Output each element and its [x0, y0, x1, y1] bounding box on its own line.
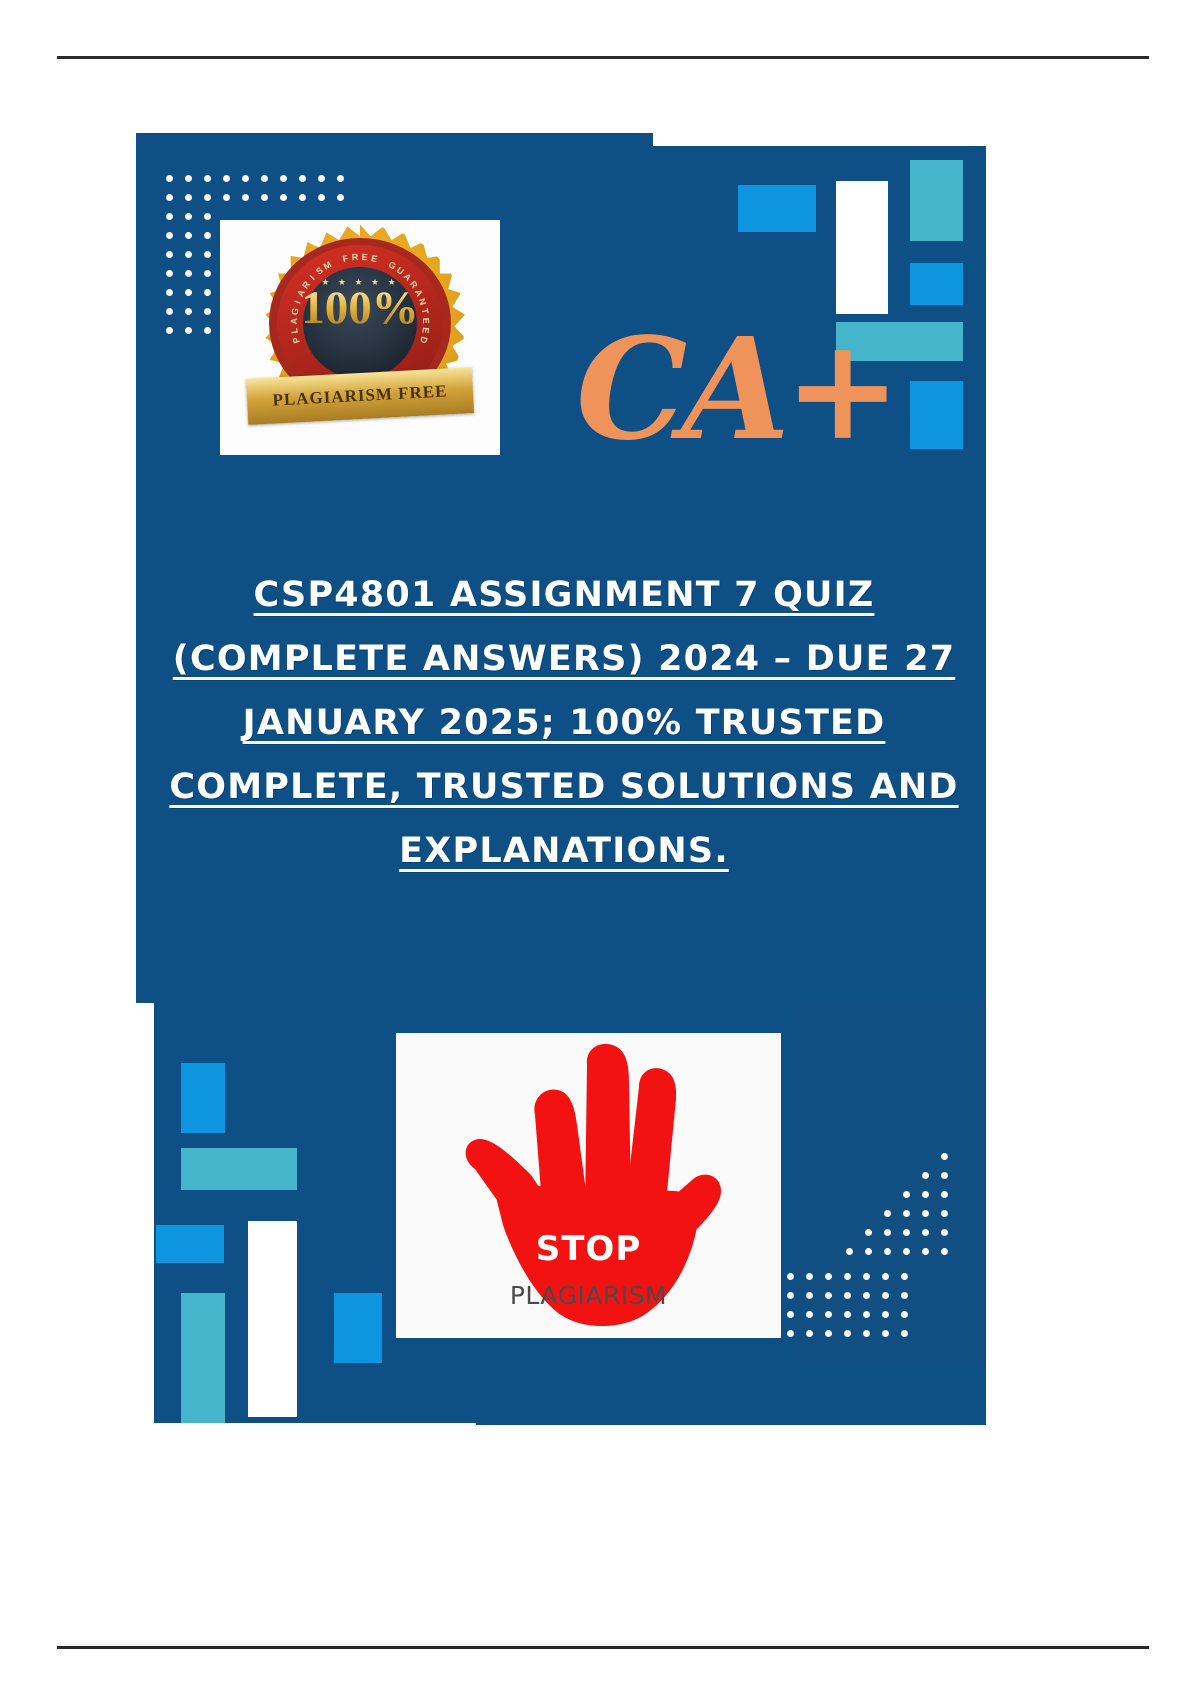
decorative-dot — [204, 308, 211, 315]
decorative-dot — [223, 194, 230, 201]
decorative-dot — [787, 1292, 794, 1299]
decorative-dot — [825, 1311, 832, 1318]
decorative-dot — [922, 1210, 929, 1217]
page-title-line-4: COMPLETE, TRUSTED SOLUTIONS AND — [154, 755, 974, 819]
decorative-dot — [941, 1248, 948, 1255]
decorative-dot — [337, 175, 344, 182]
footer-rule — [57, 1646, 1149, 1649]
decorative-dot — [922, 1191, 929, 1198]
page-title: CSP4801 ASSIGNMENT 7 QUIZ(COMPLETE ANSWE… — [154, 563, 974, 883]
decorative-dot — [787, 1330, 794, 1337]
decorative-dot — [242, 175, 249, 182]
decorative-dot — [863, 1273, 870, 1280]
decorative-dot — [318, 194, 325, 201]
decorative-dot — [884, 1248, 891, 1255]
decorative-dot — [903, 1248, 910, 1255]
decorative-dot — [844, 1330, 851, 1337]
decorative-dot — [825, 1330, 832, 1337]
deco-teal-rect-4 — [181, 1293, 225, 1423]
decorative-dot — [185, 213, 192, 220]
decorative-dot — [882, 1292, 889, 1299]
page-title-line-3: JANUARY 2025; 100% TRUSTED — [154, 691, 974, 755]
decorative-dot — [941, 1172, 948, 1179]
decorative-dot — [242, 194, 249, 201]
decorative-dot — [922, 1172, 929, 1179]
decorative-dot — [901, 1292, 908, 1299]
decorative-dot — [185, 308, 192, 315]
decorative-dot — [204, 175, 211, 182]
decorative-dot — [204, 270, 211, 277]
deco-white-rect-1 — [836, 181, 888, 314]
decorative-dot — [166, 194, 173, 201]
decorative-dot — [185, 232, 192, 239]
decorative-dot — [903, 1210, 910, 1217]
decorative-dot — [280, 194, 287, 201]
decorative-dot — [806, 1273, 813, 1280]
badge-graphic: PLAGIARISM FREE GUARANTEED ★ ★ ★ ★ ★ 100… — [245, 223, 475, 453]
header-rule — [57, 56, 1149, 59]
plagiarism-label: PLAGIARISM — [396, 1281, 781, 1310]
decorative-dot — [204, 213, 211, 220]
decorative-dot — [166, 327, 173, 334]
decorative-dot — [922, 1229, 929, 1236]
deco-blue-rect-6 — [334, 1293, 382, 1363]
decorative-dot — [844, 1273, 851, 1280]
badge-percent-label: 100% — [297, 285, 423, 332]
decorative-dot — [204, 289, 211, 296]
panel-block-right-column — [796, 1003, 986, 1423]
decorative-dot — [185, 251, 192, 258]
decorative-dot — [903, 1191, 910, 1198]
page-title-line-5: EXPLANATIONS. — [154, 819, 974, 883]
cover-panel: PLAGIARISM FREE GUARANTEED ★ ★ ★ ★ ★ 100… — [136, 133, 986, 1425]
decorative-dot — [825, 1273, 832, 1280]
decorative-dot — [204, 194, 211, 201]
decorative-dot — [863, 1292, 870, 1299]
decorative-dot — [903, 1229, 910, 1236]
decorative-dot — [844, 1311, 851, 1318]
decorative-dot — [787, 1311, 794, 1318]
ca-plus-logo: CA+ — [576, 303, 886, 478]
decorative-dot — [299, 175, 306, 182]
decorative-dot — [863, 1311, 870, 1318]
decorative-dot — [204, 232, 211, 239]
decorative-dot — [185, 289, 192, 296]
decorative-dot — [787, 1273, 794, 1280]
stop-plagiarism-image: STOP PLAGIARISM — [396, 1033, 781, 1338]
decorative-dot — [166, 232, 173, 239]
decorative-dot — [204, 251, 211, 258]
decorative-dot — [884, 1210, 891, 1217]
decorative-dot — [185, 327, 192, 334]
badge-ribbon-label: PLAGIARISM FREE — [272, 381, 448, 410]
panel-block-bottom-right — [476, 1363, 986, 1425]
decorative-dot — [204, 327, 211, 334]
stop-label: STOP — [396, 1229, 781, 1269]
deco-blue-rect-2 — [910, 263, 963, 305]
deco-blue-rect-4 — [181, 1063, 225, 1133]
decorative-dot — [901, 1330, 908, 1337]
decorative-dot — [318, 175, 325, 182]
decorative-dot — [941, 1191, 948, 1198]
deco-teal-rect-1 — [910, 160, 963, 241]
decorative-dot — [806, 1330, 813, 1337]
decorative-dot — [223, 175, 230, 182]
deco-blue-rect-3 — [910, 381, 963, 449]
decorative-dot — [185, 270, 192, 277]
decorative-dot — [882, 1273, 889, 1280]
decorative-dot — [166, 175, 173, 182]
deco-white-rect-2 — [248, 1221, 297, 1417]
decorative-dot — [166, 289, 173, 296]
decorative-dot — [865, 1248, 872, 1255]
decorative-dot — [337, 194, 344, 201]
deco-blue-rect-5 — [156, 1225, 224, 1263]
decorative-dot — [882, 1330, 889, 1337]
decorative-dot — [806, 1292, 813, 1299]
decorative-dot — [166, 270, 173, 277]
decorative-dot — [901, 1311, 908, 1318]
plagiarism-free-badge: PLAGIARISM FREE GUARANTEED ★ ★ ★ ★ ★ 100… — [220, 220, 500, 455]
decorative-dot — [844, 1292, 851, 1299]
decorative-dot — [825, 1292, 832, 1299]
decorative-dot — [901, 1273, 908, 1280]
decorative-dot — [865, 1229, 872, 1236]
decorative-dot — [941, 1153, 948, 1160]
decorative-dot — [261, 175, 268, 182]
decorative-dot — [941, 1229, 948, 1236]
decorative-dot — [280, 175, 287, 182]
decorative-dot — [261, 194, 268, 201]
decorative-dot — [166, 308, 173, 315]
deco-teal-rect-3 — [181, 1148, 297, 1190]
decorative-dot — [922, 1248, 929, 1255]
decorative-dot — [299, 194, 306, 201]
decorative-dot — [185, 194, 192, 201]
page-title-line-2: (COMPLETE ANSWERS) 2024 – DUE 27 — [154, 627, 974, 691]
decorative-dot — [863, 1330, 870, 1337]
decorative-dot — [941, 1210, 948, 1217]
deco-blue-rect-1 — [738, 185, 816, 232]
page-title-line-1: CSP4801 ASSIGNMENT 7 QUIZ — [154, 563, 974, 627]
decorative-dot — [846, 1248, 853, 1255]
decorative-dot — [882, 1311, 889, 1318]
decorative-dot — [166, 213, 173, 220]
decorative-dot — [884, 1229, 891, 1236]
decorative-dot — [806, 1311, 813, 1318]
decorative-dot — [185, 175, 192, 182]
decorative-dot — [166, 251, 173, 258]
